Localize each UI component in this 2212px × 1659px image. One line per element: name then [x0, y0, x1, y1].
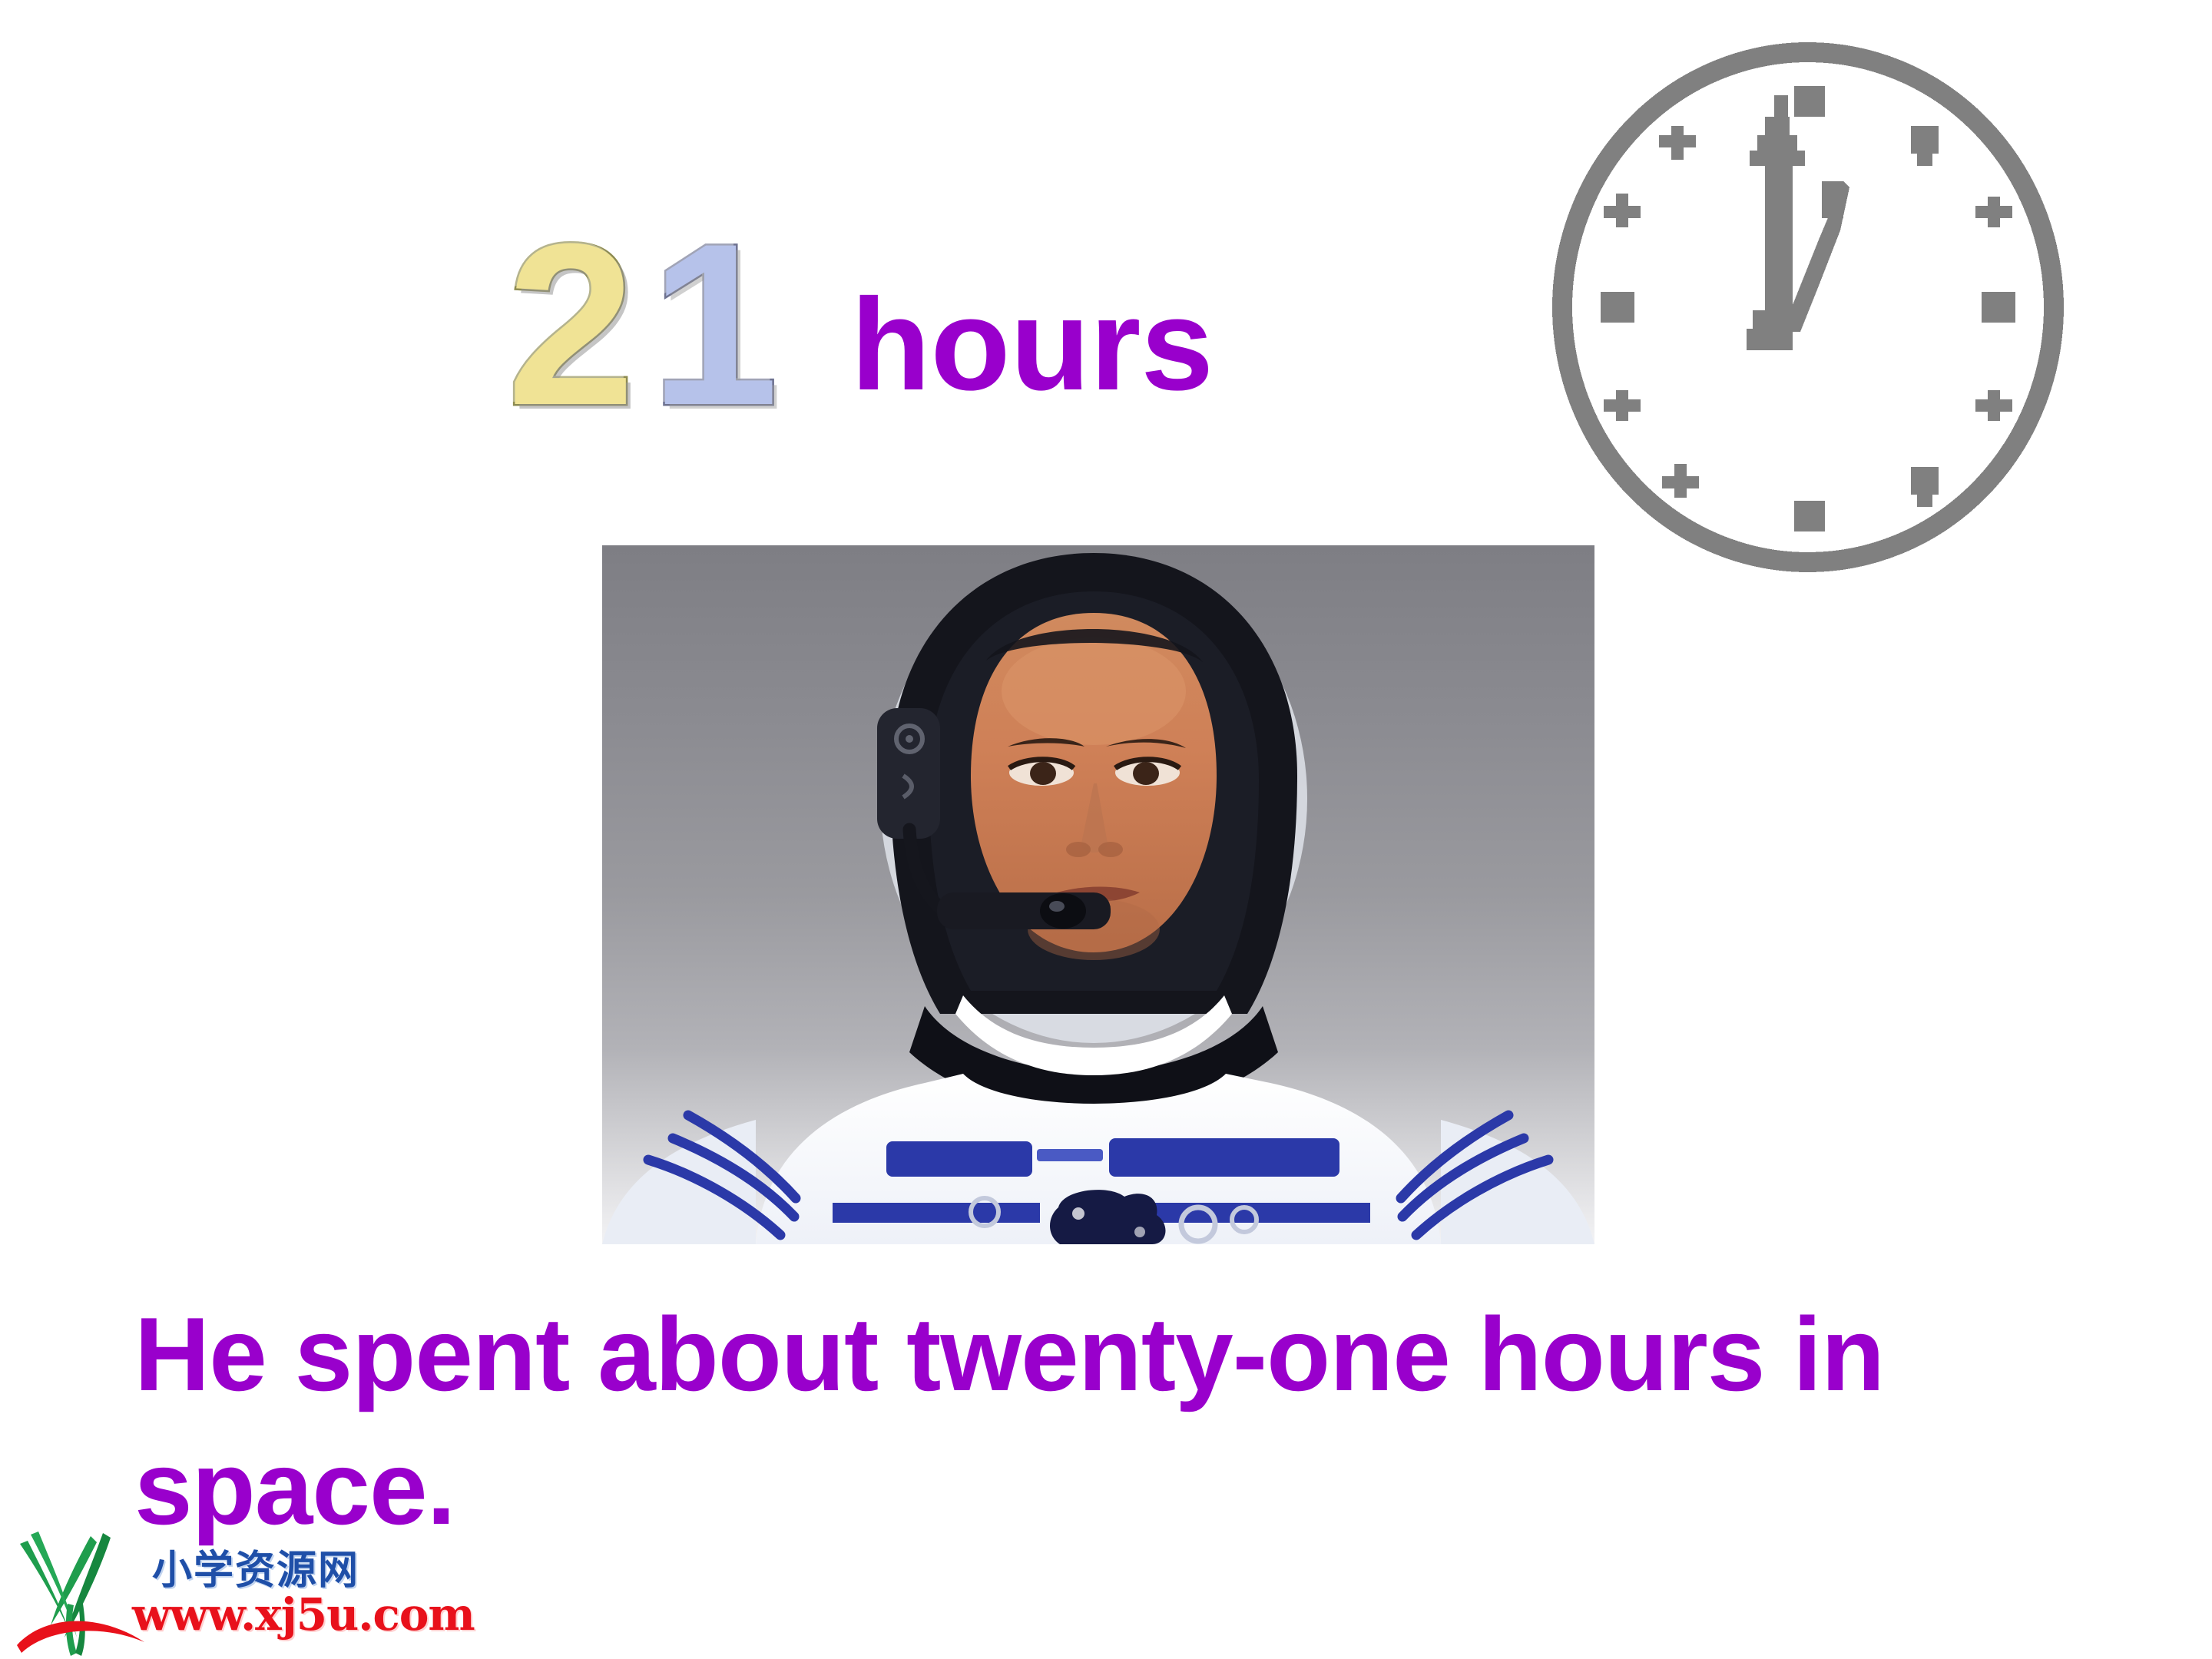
astronaut-illustration [602, 545, 1594, 1244]
clock-marker-1 [1911, 126, 1939, 166]
caption-text: He spent about twenty-one hours in space… [134, 1287, 1901, 1555]
clock-marker-12 [1794, 86, 1825, 117]
big-digit-two: 2 [507, 218, 631, 430]
clock-marker-8 [1604, 390, 1641, 421]
astronaut-photo [602, 545, 1594, 1244]
hours-unit-label: hours [851, 280, 1214, 410]
clock-marker-7 [1662, 464, 1699, 498]
big-digit-one: 1 [651, 218, 774, 430]
clock-svg [1548, 40, 2068, 575]
clock-marker-10 [1604, 194, 1641, 227]
clock-marker-2 [1975, 197, 2012, 227]
clock-marker-9 [1601, 292, 1634, 323]
clock-marker-11 [1659, 126, 1696, 160]
slide-canvas: 2 1 hours [0, 0, 2212, 1659]
clock-icon [1548, 40, 2068, 575]
clock-marker-5 [1911, 467, 1939, 507]
header-21-hours: 2 1 hours [507, 177, 1214, 430]
watermark-chinese-text: 小学资源网 [152, 1538, 359, 1595]
clock-marker-3 [1982, 292, 2015, 323]
watermark-url-text: www.xj5u.com [132, 1588, 475, 1641]
watermark: 小学资源网 www.xj5u.com [17, 1530, 432, 1659]
clock-marker-6 [1794, 501, 1825, 531]
clock-marker-4 [1975, 390, 2012, 421]
